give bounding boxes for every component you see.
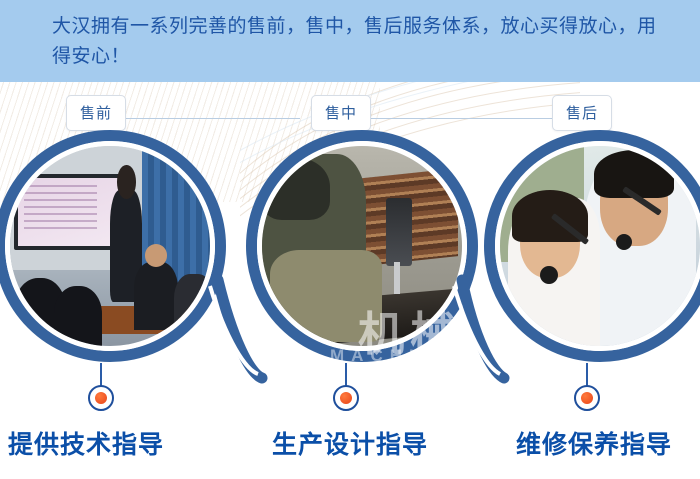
marker-midsale xyxy=(333,385,359,411)
marker-dot-2 xyxy=(340,392,352,404)
header-banner: 大汉拥有一系列完善的售前，售中，售后服务体系，放心买得放心，用得安心！ xyxy=(0,0,700,82)
stage-chip-aftersale[interactable]: 售后 xyxy=(552,95,612,131)
circle-photo-frame-1 xyxy=(5,141,215,351)
marker-stem-3 xyxy=(586,363,588,387)
connector-line-2 xyxy=(370,118,552,119)
marker-stem-2 xyxy=(345,363,347,387)
marker-presale xyxy=(88,385,114,411)
circle-photo-frame-3 xyxy=(495,141,700,351)
stage-circle-midsale[interactable] xyxy=(246,130,478,362)
caption-aftersale: 维修保养指导 xyxy=(516,425,672,461)
header-headline: 大汉拥有一系列完善的售前，售中，售后服务体系，放心买得放心，用得安心！ xyxy=(52,12,672,72)
caption-midsale: 生产设计指导 xyxy=(272,425,428,461)
marker-dot-3 xyxy=(581,392,593,404)
stage-chip-midsale[interactable]: 售中 xyxy=(311,95,371,131)
circle-photo-frame-2 xyxy=(257,141,467,351)
service-process-banner: 大汉拥有一系列完善的售前，售中，售后服务体系，放心买得放心，用得安心！ xyxy=(0,0,700,479)
marker-dot-1 xyxy=(95,392,107,404)
caption-presale: 提供技术指导 xyxy=(8,425,164,461)
stage-circle-presale[interactable] xyxy=(0,130,226,362)
photo-drilling-worker xyxy=(262,146,462,346)
marker-aftersale xyxy=(574,385,600,411)
stage-chip-presale[interactable]: 售前 xyxy=(66,95,126,131)
photo-call-center xyxy=(500,146,700,346)
stage-circle-aftersale[interactable] xyxy=(484,130,700,362)
connector-line-1 xyxy=(118,118,300,119)
photo-training-room xyxy=(10,146,210,346)
stage-photo-row: 机械 MACHINERY xyxy=(0,130,700,380)
marker-stem-1 xyxy=(100,363,102,387)
